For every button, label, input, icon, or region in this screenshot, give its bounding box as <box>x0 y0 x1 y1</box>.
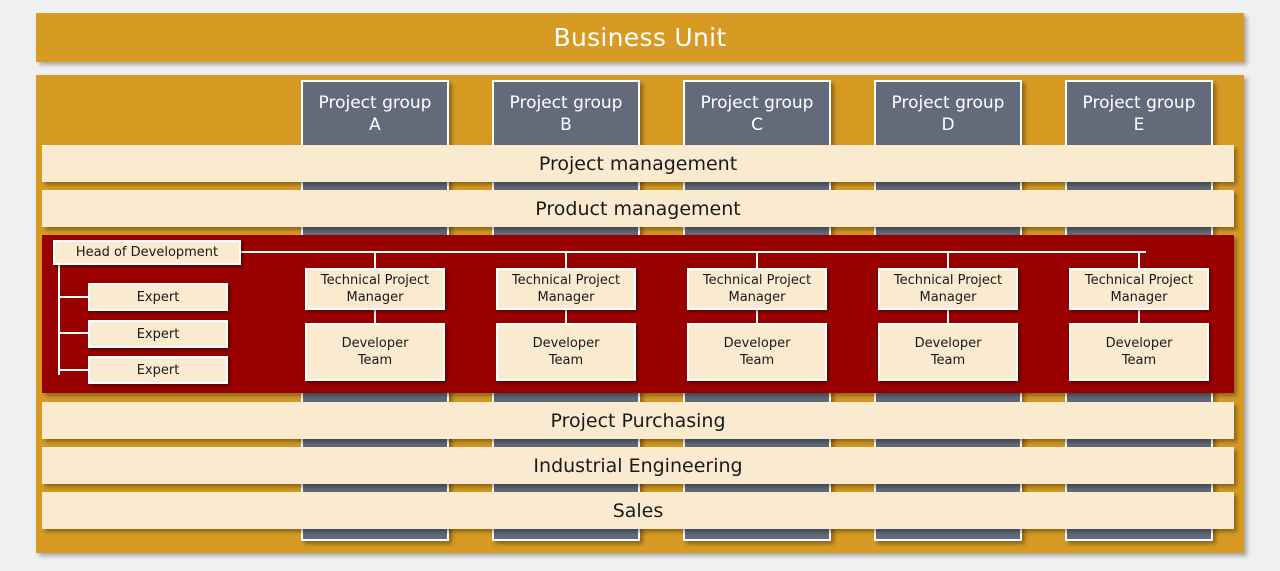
band-label-project-management: Project management <box>539 153 737 175</box>
developer-team-label-4: Developer Team <box>915 335 982 369</box>
technical-project-manager-box-5[interactable]: Technical Project Manager <box>1069 268 1209 310</box>
connector-bus-to-tpm-1 <box>374 251 376 268</box>
connector-hod-spine <box>58 265 60 375</box>
project-group-label-b: Project group B <box>494 92 638 136</box>
technical-project-manager-box-1[interactable]: Technical Project Manager <box>305 268 445 310</box>
project-group-label-d: Project group D <box>876 92 1020 136</box>
head-of-development-box[interactable]: Head of Development <box>53 240 241 265</box>
connector-bus-to-tpm-3 <box>756 251 758 268</box>
band-product-management[interactable]: Product management <box>42 190 1234 227</box>
project-group-label-c: Project group C <box>685 92 829 136</box>
connector-tpm-to-team-5 <box>1138 310 1140 324</box>
technical-project-manager-label-2: Technical Project Manager <box>512 272 620 306</box>
developer-team-box-2[interactable]: Developer Team <box>496 323 636 381</box>
technical-project-manager-label-3: Technical Project Manager <box>703 272 811 306</box>
expert-label-2: Expert <box>137 327 180 342</box>
connector-hod-to-bus <box>241 251 1146 253</box>
connector-bus-to-tpm-4 <box>947 251 949 268</box>
connector-tpm-to-team-2 <box>565 310 567 324</box>
technical-project-manager-label-4: Technical Project Manager <box>894 272 1002 306</box>
band-label-industrial-engineering: Industrial Engineering <box>533 455 742 477</box>
connector-tpm-to-team-3 <box>756 310 758 324</box>
project-group-label-e: Project group E <box>1067 92 1211 136</box>
connector-bus-to-tpm-2 <box>565 251 567 268</box>
technical-project-manager-label-1: Technical Project Manager <box>321 272 429 306</box>
developer-team-box-4[interactable]: Developer Team <box>878 323 1018 381</box>
band-industrial-engineering[interactable]: Industrial Engineering <box>42 447 1234 484</box>
band-sales[interactable]: Sales <box>42 492 1234 529</box>
developer-team-label-3: Developer Team <box>724 335 791 369</box>
technical-project-manager-box-3[interactable]: Technical Project Manager <box>687 268 827 310</box>
connector-tpm-to-team-1 <box>374 310 376 324</box>
head-of-development-label: Head of Development <box>76 245 218 260</box>
band-label-product-management: Product management <box>535 198 740 220</box>
page-title: Business Unit <box>554 23 727 52</box>
expert-label-1: Expert <box>137 290 180 305</box>
technical-project-manager-label-5: Technical Project Manager <box>1085 272 1193 306</box>
technical-project-manager-box-4[interactable]: Technical Project Manager <box>878 268 1018 310</box>
developer-team-label-1: Developer Team <box>342 335 409 369</box>
expert-box-2[interactable]: Expert <box>88 320 228 348</box>
band-project-management[interactable]: Project management <box>42 145 1234 182</box>
expert-box-3[interactable]: Expert <box>88 356 228 384</box>
developer-team-label-5: Developer Team <box>1106 335 1173 369</box>
developer-team-label-2: Developer Team <box>533 335 600 369</box>
expert-label-3: Expert <box>137 363 180 378</box>
project-group-label-a: Project group A <box>303 92 447 136</box>
developer-team-box-3[interactable]: Developer Team <box>687 323 827 381</box>
technical-project-manager-box-2[interactable]: Technical Project Manager <box>496 268 636 310</box>
band-label-project-purchasing: Project Purchasing <box>550 410 725 432</box>
org-chart-diagram: Business Unit Project group A Project gr… <box>0 0 1280 571</box>
developer-team-box-5[interactable]: Developer Team <box>1069 323 1209 381</box>
connector-hod-expert-1 <box>58 296 90 298</box>
development-band: Head of Development Expert Expert Expert… <box>42 235 1234 393</box>
connector-bus-to-tpm-5 <box>1138 251 1140 268</box>
connector-tpm-to-team-4 <box>947 310 949 324</box>
business-unit-title-bar: Business Unit <box>36 13 1244 62</box>
expert-box-1[interactable]: Expert <box>88 283 228 311</box>
band-project-purchasing[interactable]: Project Purchasing <box>42 402 1234 439</box>
band-label-sales: Sales <box>613 500 664 522</box>
developer-team-box-1[interactable]: Developer Team <box>305 323 445 381</box>
connector-hod-expert-2 <box>58 332 90 334</box>
connector-hod-expert-3 <box>58 369 90 371</box>
